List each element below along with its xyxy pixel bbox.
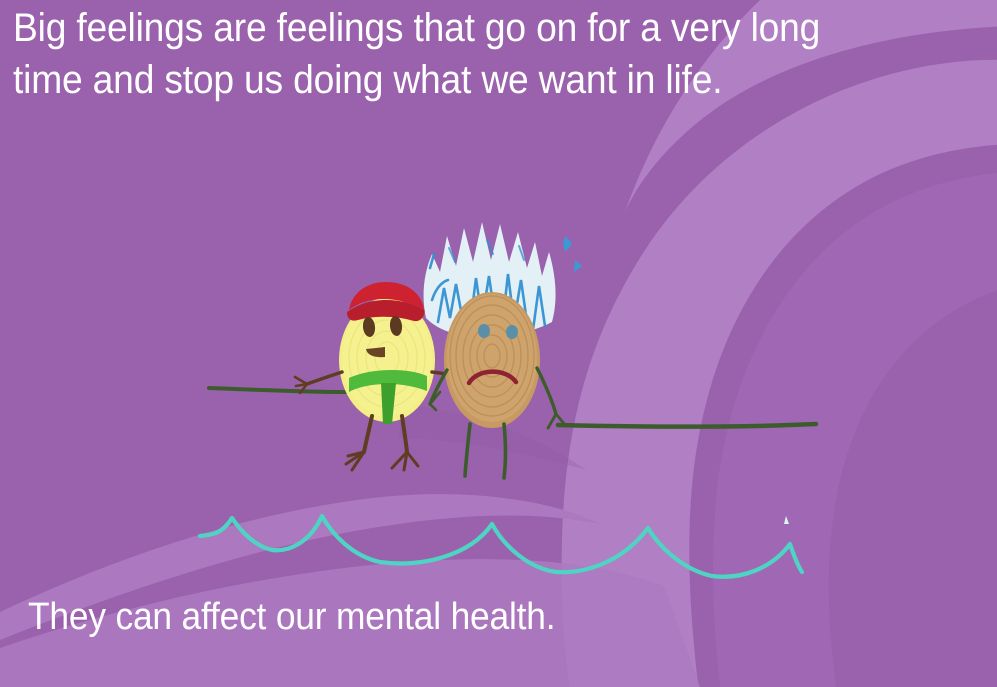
headline-line-1: Big feelings are feelings that go on for… [13, 6, 820, 50]
headline-text: Big feelings are feelings that go on for… [13, 2, 917, 106]
headline-line-2: time and stop us doing what we want in l… [13, 58, 722, 102]
slide-canvas: Big feelings are feelings that go on for… [0, 0, 997, 687]
subline-lead: They can affect our [28, 596, 336, 638]
subline-text: They can affect our mental health. [28, 594, 555, 640]
subline-emphasis: mental health. [336, 596, 555, 638]
